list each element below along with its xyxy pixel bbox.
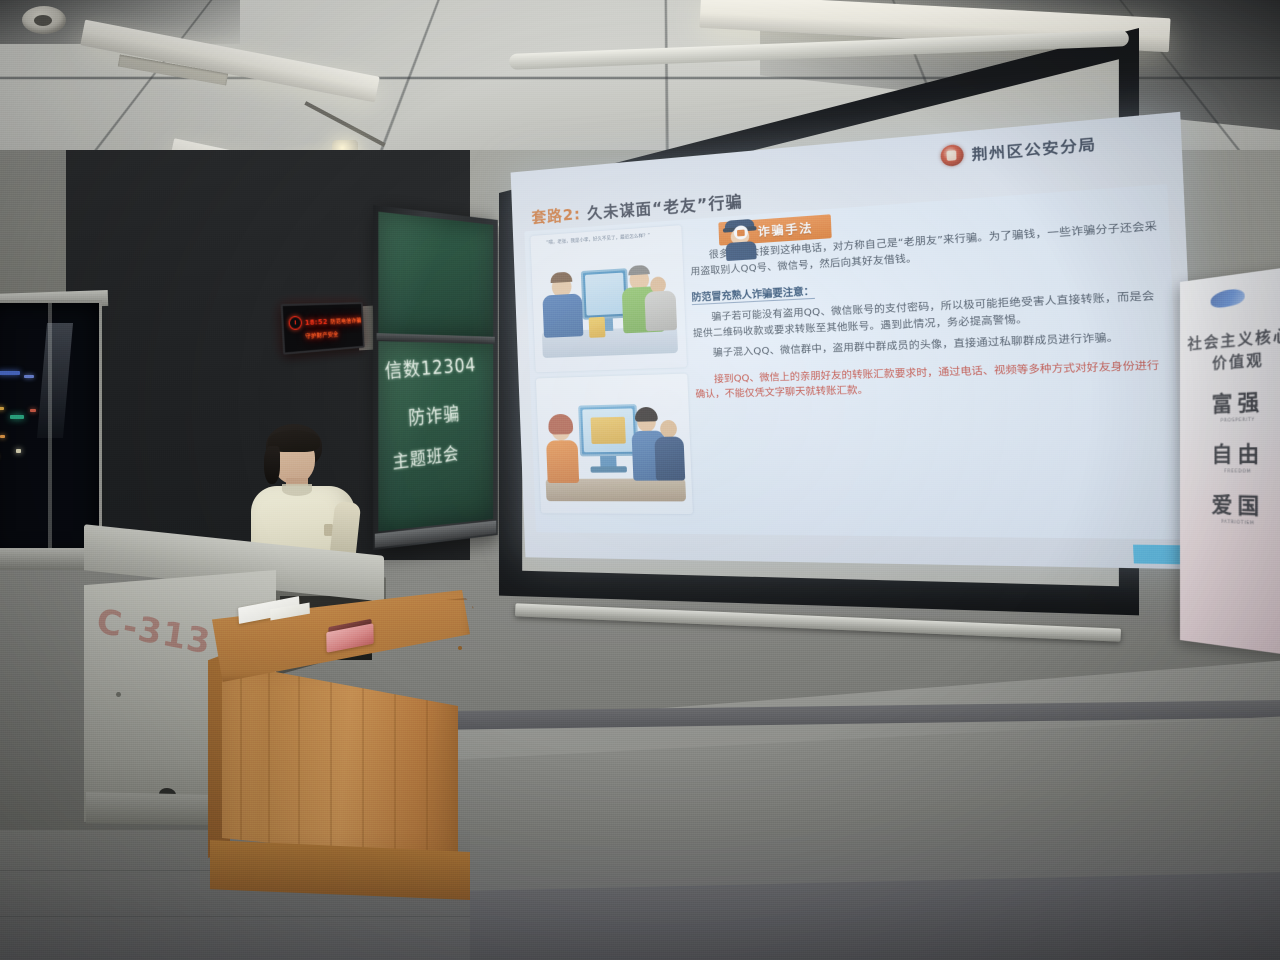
police-badge-icon xyxy=(940,143,964,166)
slide-illustrations-column: “喂，老张，我是小李，好久不见了，最近怎么样？” xyxy=(530,225,693,527)
projected-slide: 荆州区公安分局 套路2: 久未谋面“老友”行骗 “喂，老张，我是小李，好久不见了… xyxy=(511,112,1202,570)
hair-side xyxy=(264,446,280,484)
slide-title-prefix: 套路2: xyxy=(531,205,581,227)
chat-scam-illustration: “喂，老张，我是小李，好久不见了，最近怎么样？” xyxy=(530,225,687,372)
blackboard-upper-panel xyxy=(378,212,493,339)
lectern-peg xyxy=(458,646,462,650)
core-values-poster: 社会主义核心价值观 富强 PROSPERITY 自由 FREEDOM 爱国 PA… xyxy=(1180,265,1280,656)
slide-text-column: 诈骗手法 很多人都会接到这种电话，对方称自己是“老朋友”来行骗。为了骗钱，一些诈… xyxy=(689,190,1175,530)
poster-value-item: 爱国 PATRIOTISM xyxy=(1186,488,1280,528)
chalk-text-line-3: 主题班会 xyxy=(392,440,460,475)
poster-value-cn: 爱国 xyxy=(1186,488,1280,523)
poster-value-en: FREEDOM xyxy=(1186,469,1280,475)
blackboard: 信数12304 防诈骗 主题班会 xyxy=(373,205,498,550)
led-information-sign: 18:52 防范电信诈骗 守护财产安全 xyxy=(281,302,365,355)
slide-organization-name: 荆州区公安分局 xyxy=(971,132,1097,164)
led-subtext: 防范电信诈骗 xyxy=(330,316,361,325)
method-banner-label: 诈骗手法 xyxy=(757,219,813,240)
window-reflection xyxy=(37,323,73,438)
video-call-scam-illustration xyxy=(536,374,693,515)
poster-value-cn: 自由 xyxy=(1186,437,1280,470)
poster-value-cn: 富强 xyxy=(1186,384,1280,420)
night-window xyxy=(0,300,102,560)
lectern-front-panel xyxy=(222,662,458,862)
chalk-text-line-2: 防诈骗 xyxy=(407,398,460,430)
led-scroll-text: 守护财产安全 xyxy=(305,330,338,340)
slide-body: “喂，老张，我是小李，好久不见了，最近怎么样？” xyxy=(524,184,1183,539)
collar xyxy=(282,484,312,496)
poster-value-item: 自由 FREEDOM xyxy=(1186,437,1280,475)
emblem-logo xyxy=(1210,287,1245,310)
led-time: 18:52 xyxy=(305,317,328,326)
clock-icon xyxy=(288,316,302,330)
poster-value-item: 富强 PROSPERITY xyxy=(1186,384,1280,425)
slide-warning-text: 接到QQ、微信上的亲朋好友的转账汇款要求时，通过电话、视频等多种方式对好友身份进… xyxy=(695,358,1169,404)
wooden-lectern xyxy=(186,590,476,920)
illustration-caption: “喂，老张，我是小李，好久不见了，最近怎么样？” xyxy=(546,234,650,248)
classroom-scene-photo: 18:52 防范电信诈骗 守护财产安全 信数12304 防诈骗 主题班会 xyxy=(0,0,1280,960)
chalk-text-line-1: 信数12304 xyxy=(384,349,477,383)
poster-heading: 社会主义核心价值观 xyxy=(1186,323,1280,376)
slide-heading-2: 防范冒充熟人诈骗要注意： xyxy=(691,283,814,305)
console-screw xyxy=(116,692,121,697)
smoke-detector-icon xyxy=(22,6,66,34)
blackboard-lower-panel: 信数12304 防诈骗 主题班会 xyxy=(378,341,493,531)
